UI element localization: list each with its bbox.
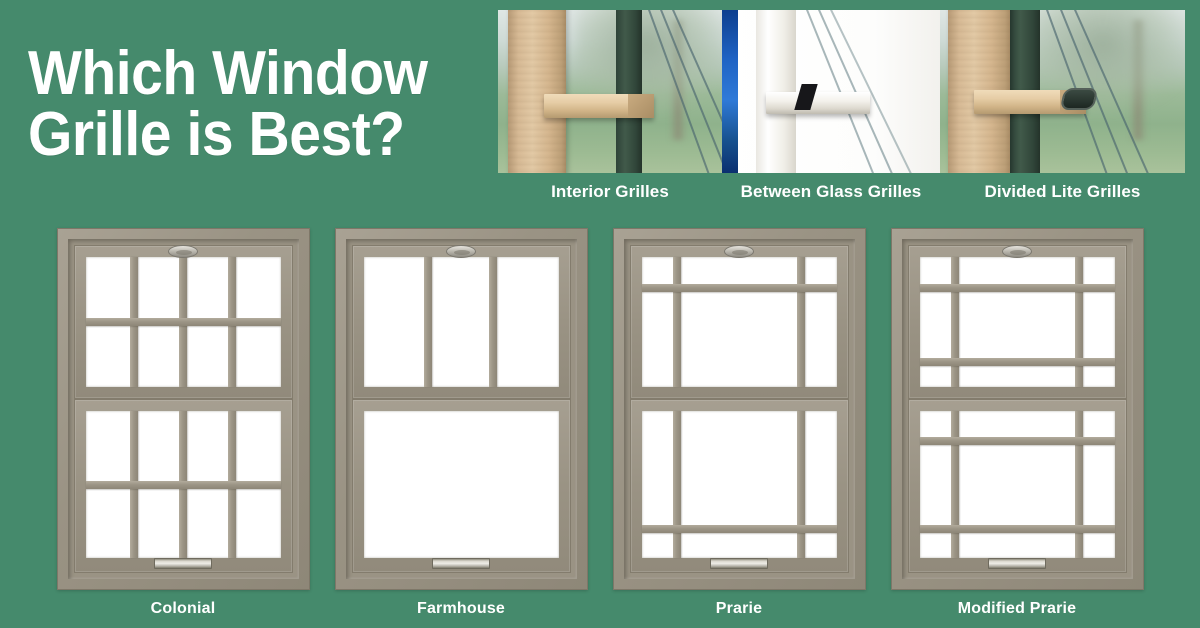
grille-photo-strip [498, 10, 1185, 173]
lift-handle-icon[interactable] [432, 558, 490, 569]
grille-bar-vertical [951, 257, 959, 387]
window-unit [891, 228, 1144, 590]
window-styles-row: Colonial Farmhouse [0, 228, 1200, 624]
page-headline: Which Window Grille is Best? [28, 44, 451, 166]
window-style-card-farmhouse[interactable]: Farmhouse [335, 228, 588, 624]
sash-lock-icon[interactable] [168, 245, 198, 258]
photo-caption-divided-lite-grilles: Divided Lite Grilles [940, 178, 1185, 206]
bottom-sash-glass [86, 411, 281, 558]
top-sash-glass [86, 257, 281, 387]
window-style-label: Modified Prarie [958, 600, 1077, 618]
bottom-sash-glass [364, 411, 559, 558]
photo-caption-interior-grilles: Interior Grilles [498, 178, 722, 206]
headline-line-1: Which Window [28, 44, 451, 105]
top-sash-glass [920, 257, 1115, 387]
bottom-sash [352, 399, 571, 573]
window-style-card-modified-prarie[interactable]: Modified Prarie [891, 228, 1144, 624]
window-style-label: Prarie [716, 600, 763, 618]
sash-lock-icon[interactable] [1002, 245, 1032, 258]
grille-bar-vertical [489, 257, 497, 387]
window-style-card-colonial[interactable]: Colonial [57, 228, 310, 624]
blue-glass-edge-icon [722, 10, 738, 173]
grille-bar-horizontal [86, 481, 281, 489]
lift-handle-icon[interactable] [710, 558, 768, 569]
grille-bar-horizontal [86, 318, 281, 326]
grille-bar-vertical [1075, 257, 1083, 387]
sash-stile-icon [616, 10, 642, 173]
top-sash-glass [642, 257, 837, 387]
grille-bar-horizontal [920, 358, 1115, 366]
bottom-sash [908, 399, 1127, 573]
wood-jamb-icon [508, 10, 566, 173]
grille-bar-vertical [951, 411, 959, 558]
photo-panel-interior-grilles [498, 10, 722, 173]
grille-bar-vertical [1075, 411, 1083, 558]
top-sash [908, 245, 1127, 399]
bottom-sash-glass [920, 411, 1115, 558]
window-unit [613, 228, 866, 590]
grille-bar-vertical [424, 257, 432, 387]
sash-lock-icon[interactable] [724, 245, 754, 258]
grille-bar-horizontal [920, 284, 1115, 292]
window-style-card-prarie[interactable]: Prarie [613, 228, 866, 624]
top-sash [630, 245, 849, 399]
photo-caption-between-glass-grilles: Between Glass Grilles [722, 178, 940, 206]
photo-strip-captions: Interior Grilles Between Glass Grilles D… [498, 178, 1185, 206]
window-unit [335, 228, 588, 590]
grille-bar-vertical [797, 411, 805, 558]
bottom-sash-glass [642, 411, 837, 558]
grille-bar-vertical [673, 411, 681, 558]
top-sash [352, 245, 571, 399]
window-style-label: Colonial [151, 600, 216, 618]
top-sash-glass [364, 257, 559, 387]
window-style-label: Farmhouse [417, 600, 505, 618]
lift-handle-icon[interactable] [988, 558, 1046, 569]
sash-lock-icon[interactable] [446, 245, 476, 258]
top-sash [74, 245, 293, 399]
grille-bar-horizontal [642, 525, 837, 533]
photo-panel-between-glass-grilles [722, 10, 940, 173]
grille-bar-horizontal [642, 284, 837, 292]
lift-handle-icon[interactable] [154, 558, 212, 569]
grille-bar-vertical [673, 257, 681, 387]
grille-bar-horizontal [920, 525, 1115, 533]
headline-line-2: Grille is Best? [28, 105, 451, 166]
between-glass-grille-bar-icon [766, 92, 870, 114]
interior-grille-bar-icon [544, 94, 654, 118]
photo-panel-divided-lite-grilles [940, 10, 1185, 173]
window-unit [57, 228, 310, 590]
bottom-sash [74, 399, 293, 573]
grille-bar-horizontal [920, 437, 1115, 445]
bottom-sash [630, 399, 849, 573]
grille-bar-vertical [797, 257, 805, 387]
